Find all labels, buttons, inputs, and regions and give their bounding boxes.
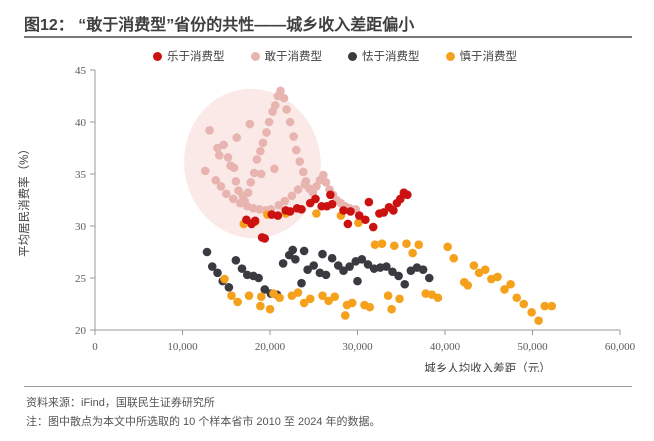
page-title: 图12： “敢于消费型”省份的共性——城乡收入差距偏小 [24,11,414,35]
data-point [280,94,289,103]
data-point [414,240,423,249]
data-point [295,157,304,166]
data-point [274,211,283,220]
data-point [201,167,210,176]
data-point [245,291,254,300]
legend-marker-icon [446,52,455,61]
data-point [205,126,214,135]
data-point [257,292,266,301]
data-point [301,180,310,189]
data-point [270,165,279,174]
legend-marker-icon [348,52,357,61]
y-tick-label: 30 [75,221,87,233]
data-point [297,279,306,288]
data-point [259,139,268,148]
data-point [449,254,458,263]
data-point [394,272,403,281]
data-point [390,241,399,250]
data-point [481,265,490,274]
figure-footer: 资料来源：iFind，国联民生证券研究所 注：图中散点为本文中所选取的 10 个… [26,394,632,432]
data-point [288,246,297,255]
data-point [294,288,303,297]
data-point [470,261,479,270]
data-point [419,265,428,274]
y-axis-title: 平均居民消费率（%） [17,143,31,257]
data-point [384,291,393,300]
data-point [262,128,271,137]
data-point [292,146,301,155]
data-point [224,153,233,162]
data-point [344,220,353,229]
data-point [353,277,362,286]
data-point [271,101,280,110]
data-point [425,274,434,283]
data-point [387,305,396,314]
data-point [297,205,306,214]
data-point [318,250,327,259]
y-tick-label: 40 [75,117,87,129]
data-point [232,133,241,142]
data-point [309,261,318,270]
data-point [365,303,374,312]
data-point [288,192,297,201]
x-tick-label: 30,000 [342,341,373,353]
x-tick-label: 50,000 [517,341,548,353]
data-point [227,291,236,300]
data-point [246,120,255,129]
legend-marker-icon [153,52,162,61]
data-point [493,273,502,282]
data-point [257,170,266,179]
y-tick-label: 20 [75,325,87,337]
data-point [225,283,234,292]
data-point [256,147,265,156]
y-tick-label: 45 [75,65,87,77]
data-point [463,281,472,290]
data-point [403,191,412,200]
data-point [311,195,320,204]
data-point [361,215,370,224]
data-point [346,207,355,216]
data-point [281,197,290,206]
scatter-plot: 202530354045010,00020,00030,00040,00050,… [0,62,654,372]
data-point [378,239,387,248]
data-point [279,259,288,268]
data-point [217,182,226,191]
data-point [294,185,303,194]
figure-title: 图12： “敢于消费型”省份的共性——城乡收入差距偏小 [24,10,636,36]
data-point [203,248,212,257]
data-point [289,132,298,141]
data-point [512,293,521,302]
data-point [265,118,274,127]
data-point [369,223,378,232]
data-point [232,177,241,186]
data-point [443,243,452,252]
data-point [330,292,339,301]
data-point [348,299,357,308]
data-point [251,217,260,226]
x-tick-label: 20,000 [255,341,286,353]
series-怯于消费型 [203,246,434,299]
data-point [275,293,284,302]
data-point [219,141,228,150]
data-point [260,234,269,243]
data-point [253,155,262,164]
data-point [286,118,295,127]
data-point [230,163,239,172]
data-point [328,200,337,209]
y-tick-label: 25 [75,273,87,285]
x-tick-label: 60,000 [605,341,636,353]
plot-area: 202530354045010,00020,00030,00040,00050,… [0,62,654,372]
data-point [408,249,417,258]
data-point [328,254,337,263]
data-point [233,298,242,307]
data-point [244,188,253,197]
data-point [306,295,315,304]
data-point [519,300,528,309]
data-point [232,256,241,265]
data-point [402,239,411,248]
data-point [299,168,308,177]
data-point [220,275,229,284]
data-point [400,280,409,289]
figure-panel: 图12： “敢于消费型”省份的共性——城乡收入差距偏小 乐于消费型敢于消费型怯于… [0,0,654,441]
data-point [395,295,404,304]
x-tick-label: 10,000 [167,341,198,353]
data-point [266,305,275,314]
data-point [322,271,331,280]
data-point [326,191,335,200]
title-divider [24,36,632,38]
data-point [506,280,515,289]
legend-marker-icon [251,52,260,61]
data-point [222,189,231,198]
data-point [291,255,300,264]
data-point [434,293,443,302]
source-line: 资料来源：iFind，国联民生证券研究所 [26,394,632,413]
data-point [215,151,224,160]
data-point [256,302,265,311]
x-tick-label: 0 [92,341,98,353]
data-point [254,274,263,283]
x-axis-title: 城乡人均收入差距（元） [424,361,551,372]
data-point [282,105,291,114]
footer-divider [24,386,632,387]
data-point [365,198,374,207]
data-point [246,178,255,187]
data-point [341,311,350,320]
y-tick-label: 35 [75,169,87,181]
data-point [312,209,321,218]
data-point [213,269,222,278]
data-point [547,302,556,311]
data-point [527,308,536,317]
data-point [534,316,543,325]
x-tick-label: 40,000 [430,341,461,353]
note-line: 注：图中散点为本文中所选取的 10 个样本省市 2010 至 2024 年的数据… [26,413,632,432]
data-point [300,247,309,256]
